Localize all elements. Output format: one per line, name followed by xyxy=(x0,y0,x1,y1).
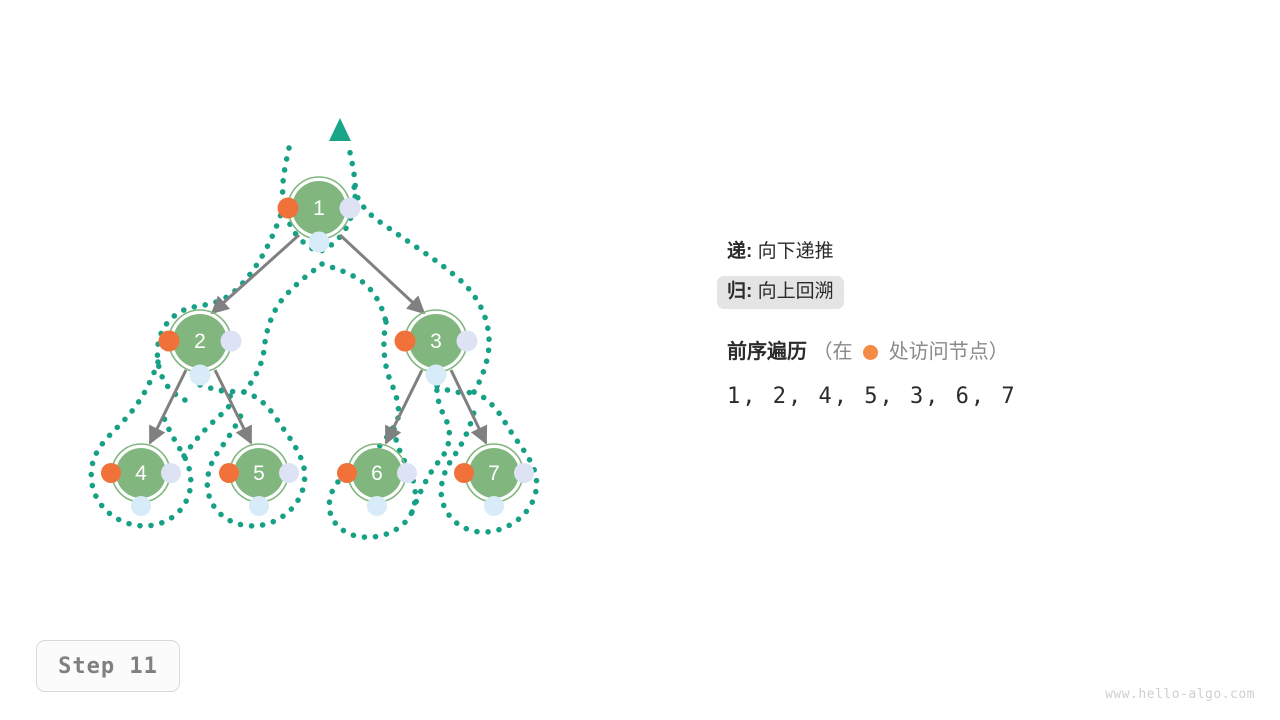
legend-backtrack-label: 归: xyxy=(727,281,752,302)
tree-node-7[interactable]: 7 xyxy=(454,444,534,516)
tree-node-2[interactable]: 2 xyxy=(159,310,242,386)
step-badge: Step 11 xyxy=(36,640,180,692)
traversal-heading: 前序遍历 （在 处访问节点） xyxy=(727,342,1167,362)
node-label: 1 xyxy=(313,197,325,220)
visit-dot-icon xyxy=(454,463,474,483)
tree-node-4[interactable]: 4 xyxy=(101,444,181,516)
edge-2-4 xyxy=(150,370,186,443)
legend-recursion-label: 递: xyxy=(727,241,752,262)
contour-2-right-up xyxy=(244,264,322,392)
right-dot-icon xyxy=(514,463,534,483)
node-label: 3 xyxy=(430,330,442,353)
right-dot-icon xyxy=(457,331,478,352)
edge-1-2 xyxy=(212,235,299,313)
bottom-dot-icon xyxy=(426,365,447,386)
edge-2-5 xyxy=(215,370,251,443)
traversal-note-open: （在 xyxy=(813,341,853,363)
node-label: 4 xyxy=(135,462,147,485)
bottom-dot-icon xyxy=(190,365,211,386)
tree-node-5[interactable]: 5 xyxy=(219,444,299,516)
edge-3-6 xyxy=(386,370,422,443)
node-label: 5 xyxy=(253,462,265,485)
visit-dot-icon xyxy=(863,345,878,360)
node-label: 6 xyxy=(371,462,383,485)
bottom-dot-icon xyxy=(484,496,504,516)
position-marker-triangle xyxy=(329,118,351,141)
node-label: 2 xyxy=(194,330,206,353)
legend-recursion-value: 向下递推 xyxy=(758,241,834,262)
legend-recursion-row: 递: 向下递推 xyxy=(717,236,844,269)
visit-dot-icon xyxy=(101,463,121,483)
legend-backtrack-value: 向上回溯 xyxy=(758,281,834,302)
visit-dot-icon xyxy=(159,331,180,352)
visit-dot-icon xyxy=(337,463,357,483)
bottom-dot-icon xyxy=(309,232,330,253)
watermark: www.hello-algo.com xyxy=(1105,687,1255,702)
traversal-title: 前序遍历 xyxy=(727,341,807,363)
visit-dot-icon xyxy=(395,331,416,352)
tree-node-6[interactable]: 6 xyxy=(337,444,417,516)
contour-under-node3 xyxy=(437,386,474,393)
node-label: 7 xyxy=(488,462,500,485)
bottom-dot-icon xyxy=(367,496,387,516)
legend-recursion-row-wrap: 递: 向下递推 xyxy=(727,236,1167,269)
info-panel: 递: 向下递推 归: 向上回溯 前序遍历 （在 处访问节点） 1, 2, 4, … xyxy=(727,236,1167,409)
diagram-canvas: 1 2 3 4 xyxy=(0,0,1280,720)
bottom-dot-icon xyxy=(131,496,151,516)
visit-dot-icon xyxy=(219,463,239,483)
binary-tree-diagram: 1 2 3 4 xyxy=(0,0,640,600)
contour-root-bottom xyxy=(322,264,386,322)
right-dot-icon xyxy=(161,463,181,483)
tree-node-3[interactable]: 3 xyxy=(395,310,478,386)
traversal-note-close: 处访问节点） xyxy=(889,341,1009,363)
right-dot-icon xyxy=(279,463,299,483)
right-dot-icon xyxy=(340,198,361,219)
legend-backtrack-row: 归: 向上回溯 xyxy=(717,276,844,309)
legend-backtrack-row-wrap: 归: 向上回溯 xyxy=(727,276,1167,309)
contour-6-to-7-up xyxy=(412,386,449,512)
right-dot-icon xyxy=(221,331,242,352)
traversal-sequence: 1, 2, 4, 5, 3, 6, 7 xyxy=(727,384,1167,409)
right-dot-icon xyxy=(397,463,417,483)
visit-dot-icon xyxy=(278,198,299,219)
bottom-dot-icon xyxy=(249,496,269,516)
